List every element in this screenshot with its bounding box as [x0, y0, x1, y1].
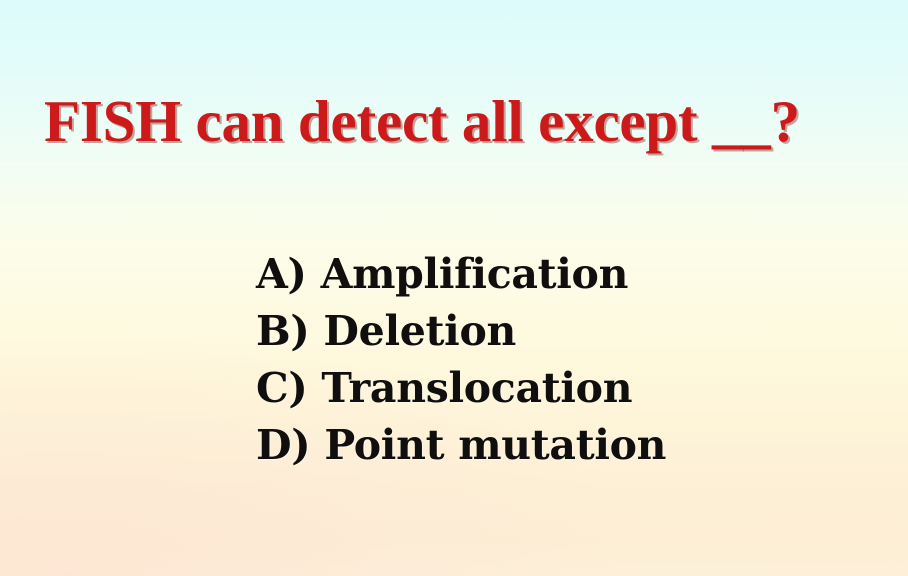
answer-option-b[interactable]: B) Deletion: [256, 303, 666, 360]
slide-content: FISH can detect all except __? A) Amplif…: [0, 0, 908, 576]
quiz-slide: FISH can detect all except __? A) Amplif…: [0, 0, 908, 576]
answer-option-a[interactable]: A) Amplification: [256, 246, 666, 303]
answer-options-list: A) Amplification B) Deletion C) Transloc…: [256, 246, 666, 474]
answer-option-c[interactable]: C) Translocation: [256, 360, 666, 417]
question-title: FISH can detect all except __?: [44, 92, 900, 151]
answer-option-d[interactable]: D) Point mutation: [256, 417, 666, 474]
